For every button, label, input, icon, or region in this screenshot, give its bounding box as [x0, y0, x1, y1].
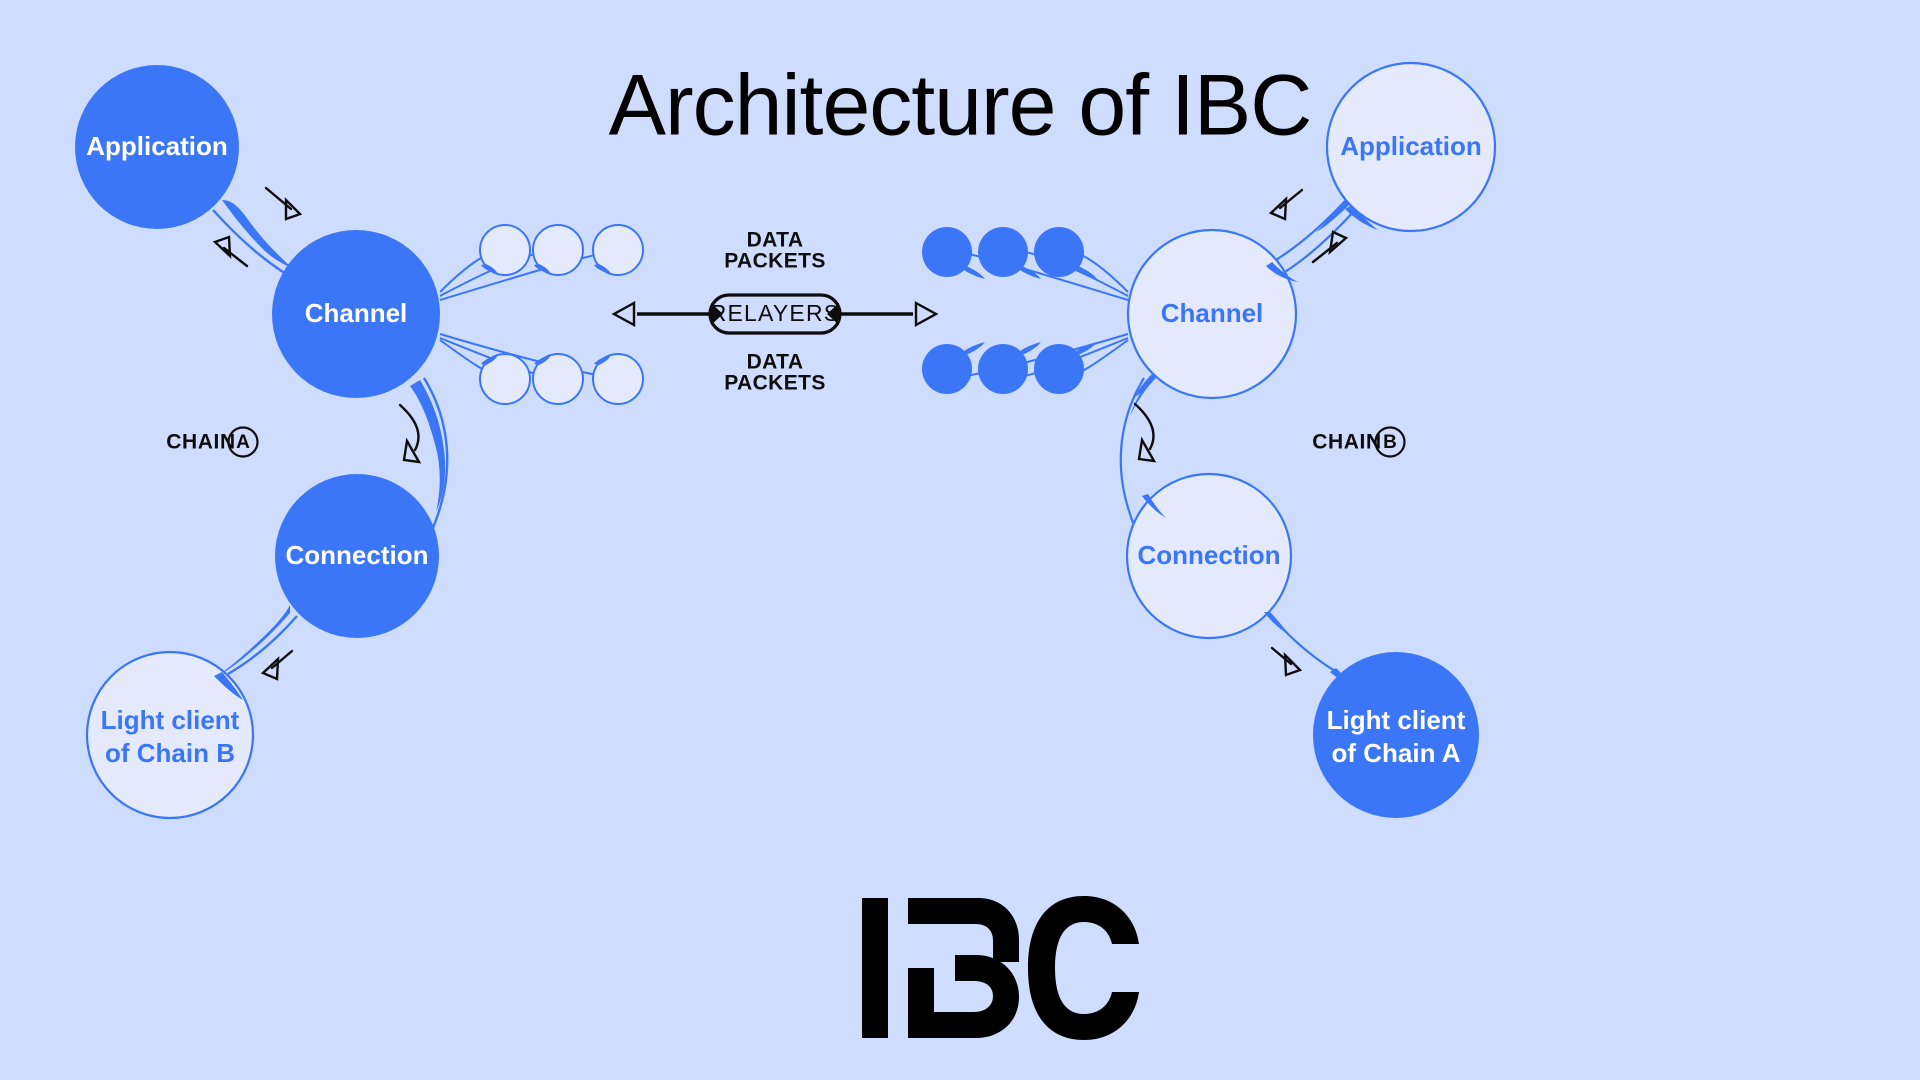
relayers-group: RELAYERS DATA PACKETS DATA PACKETS — [614, 229, 936, 395]
arrow-a-app-to-channel — [266, 188, 300, 219]
data-packets-bottom-line2: PACKETS — [724, 372, 826, 395]
packet-b-bottom-1-gusset — [960, 342, 985, 355]
data-packets-top-line2: PACKETS — [724, 250, 826, 273]
relayers-left-arrowhead — [614, 303, 634, 325]
node-a-light-client-label-line2: of Chain B — [105, 738, 235, 768]
data-packets-top-line1: DATA — [747, 229, 804, 252]
chain-a-group: Application Channel Connection Light cli… — [75, 65, 643, 818]
node-b-channel-gusset-bottom — [1134, 374, 1157, 398]
arrow-a-channel-to-connection — [400, 405, 419, 462]
packet-b-top-1-gusset — [960, 266, 985, 279]
packet-group-b-top — [922, 227, 1084, 277]
packet-b-top-3-gusset — [1072, 266, 1097, 279]
node-b-light-client[interactable] — [1313, 652, 1479, 818]
packet-group-a-top — [480, 225, 643, 275]
architecture-diagram: Architecture of IBC Application Channel … — [0, 0, 1920, 1080]
packet-group-a-bottom — [480, 354, 643, 404]
arrow-a-connection-to-lightclient — [263, 651, 292, 679]
chain-a-label: CHAIN — [166, 431, 236, 454]
packet-b-bottom-2-gusset — [1016, 342, 1041, 355]
chain-a-badge-letter: A — [236, 432, 250, 453]
ibc-logo-letter-b — [908, 898, 1019, 1038]
node-b-application-label: Application — [1340, 131, 1482, 161]
ibc-logo-letter-c — [1028, 896, 1139, 1040]
link-a-connection-lightclient-edge — [228, 616, 297, 674]
arrow-b-app-to-channel — [1271, 190, 1302, 219]
node-b-channel-label: Channel — [1161, 298, 1264, 328]
link-b-connection-lightclient-edge — [1271, 616, 1340, 674]
node-a-channel-label: Channel — [305, 298, 408, 328]
link-a-application-channel — [222, 200, 292, 268]
relayers-label: RELAYERS — [710, 300, 841, 326]
node-b-light-client-label-line1: Light client — [1327, 705, 1466, 735]
ibc-logo — [862, 896, 1139, 1040]
arrow-b-connection-to-lightclient — [1272, 648, 1300, 675]
ibc-logo-letter-i — [862, 898, 888, 1038]
chain-b-group: Application Channel Connection Light cli… — [922, 63, 1495, 818]
node-a-light-client[interactable] — [87, 652, 253, 818]
link-b-app-gusset — [1316, 200, 1351, 232]
node-a-application-label: Application — [86, 131, 228, 161]
chain-b-label: CHAIN — [1312, 431, 1382, 454]
node-b-light-client-label-line2: of Chain A — [1331, 738, 1460, 768]
diagram-canvas: Architecture of IBC Application Channel … — [0, 0, 1920, 1080]
relayers-right-arrowhead — [916, 303, 936, 325]
node-a-connection-label: Connection — [286, 540, 429, 570]
link-a-application-channel-edge — [213, 210, 296, 280]
node-a-light-client-label-line1: Light client — [101, 705, 240, 735]
arrow-b-channel-to-connection — [1135, 404, 1154, 461]
link-a-channel-connection — [410, 380, 445, 512]
data-packets-bottom-line1: DATA — [747, 351, 804, 374]
page-title: Architecture of IBC — [609, 58, 1312, 154]
node-b-connection-gusset-bottom — [1264, 612, 1288, 634]
chain-b-badge-letter: B — [1383, 432, 1397, 453]
node-b-connection-label: Connection — [1138, 540, 1281, 570]
packet-group-b-bottom — [922, 344, 1084, 394]
